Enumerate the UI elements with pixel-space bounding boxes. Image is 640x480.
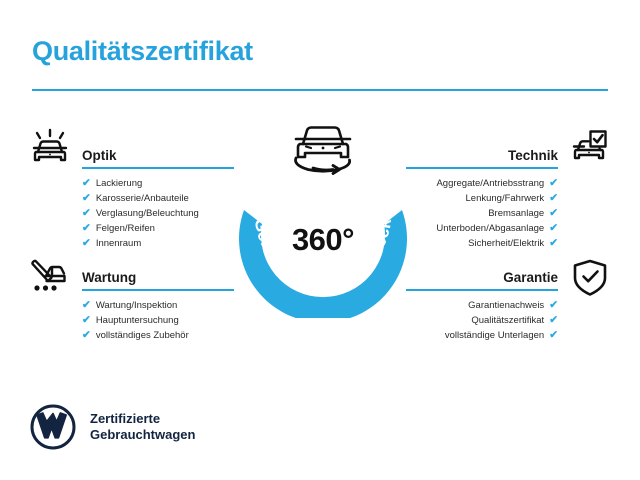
list-item: ✔Wartung/Inspektion (82, 298, 234, 313)
check-icon: ✔ (549, 223, 558, 234)
list-item: ✔Verglasung/Beleuchtung (82, 206, 234, 221)
car-checkbox-icon (566, 126, 610, 170)
check-icon: ✔ (82, 315, 91, 326)
list-item-label: vollständiges Zubehör (96, 328, 189, 343)
list-item: Bremsanlage✔ (406, 206, 558, 221)
list-item-label: Felgen/Reifen (96, 221, 155, 236)
list-item: Aggregate/Antriebsstrang✔ (406, 176, 558, 191)
check-icon: ✔ (82, 238, 91, 249)
page-title: Qualitätszertifikat (32, 36, 253, 67)
check-icon: ✔ (549, 330, 558, 341)
list-item-label: Karosserie/Anbauteile (96, 191, 189, 206)
badge-center-label: 360° (228, 222, 418, 258)
gebrauchtwagen-check-badge: Gebrauchtwagen-Check 360° (228, 118, 418, 318)
section-wartung: Wartung ✔Wartung/Inspektion ✔Hauptunters… (82, 270, 234, 343)
check-icon: ✔ (549, 238, 558, 249)
list-item-label: Lackierung (96, 176, 142, 191)
check-icon: ✔ (549, 178, 558, 189)
list-item: ✔Hauptuntersuchung (82, 313, 234, 328)
check-icon: ✔ (82, 330, 91, 341)
section-optik-list: ✔Lackierung ✔Karosserie/Anbauteile ✔Verg… (82, 176, 234, 251)
section-technik-divider (406, 167, 558, 169)
section-wartung-heading: Wartung (82, 270, 234, 286)
list-item-label: Sicherheit/Elektrik (468, 236, 544, 251)
check-icon: ✔ (82, 178, 91, 189)
list-item: ✔vollständiges Zubehör (82, 328, 234, 343)
check-icon: ✔ (549, 315, 558, 326)
check-icon: ✔ (82, 208, 91, 219)
check-icon: ✔ (82, 223, 91, 234)
footer-brand: Zertifizierte Gebrauchtwagen (30, 404, 195, 450)
section-technik-heading: Technik (406, 148, 558, 164)
list-item: ✔Karosserie/Anbauteile (82, 191, 234, 206)
footer-text: Zertifizierte Gebrauchtwagen (90, 411, 195, 443)
list-item-label: Wartung/Inspektion (96, 298, 178, 313)
car-service-tool-icon (26, 254, 70, 298)
shield-check-icon (568, 256, 612, 300)
check-icon: ✔ (549, 193, 558, 204)
list-item: vollständige Unterlagen✔ (406, 328, 558, 343)
list-item-label: Aggregate/Antriebsstrang (436, 176, 544, 191)
list-item: Garantienachweis✔ (406, 298, 558, 313)
section-optik-divider (82, 167, 234, 169)
title-divider (32, 89, 608, 91)
section-garantie-list: Garantienachweis✔ Qualitätszertifikat✔ v… (406, 298, 558, 343)
list-item: ✔Lackierung (82, 176, 234, 191)
check-icon: ✔ (82, 193, 91, 204)
list-item-label: vollständige Unterlagen (445, 328, 544, 343)
vw-logo (30, 404, 76, 450)
section-technik-list: Aggregate/Antriebsstrang✔ Lenkung/Fahrwe… (406, 176, 558, 251)
section-wartung-list: ✔Wartung/Inspektion ✔Hauptuntersuchung ✔… (82, 298, 234, 343)
list-item: ✔Felgen/Reifen (82, 221, 234, 236)
list-item-label: Garantienachweis (468, 298, 544, 313)
list-item-label: Lenkung/Fahrwerk (466, 191, 545, 206)
qualitaetszertifikat-page: Qualitätszertifikat Optik ✔Lackierung ✔K… (0, 0, 640, 480)
section-garantie: Garantie Garantienachweis✔ Qualitätszert… (406, 270, 558, 343)
list-item-label: Innenraum (96, 236, 141, 251)
check-icon: ✔ (82, 300, 91, 311)
list-item: Lenkung/Fahrwerk✔ (406, 191, 558, 206)
section-optik-heading: Optik (82, 148, 234, 164)
list-item-label: Bremsanlage (488, 206, 544, 221)
list-item: Unterboden/Abgasanlage✔ (406, 221, 558, 236)
section-optik: Optik ✔Lackierung ✔Karosserie/Anbauteile… (82, 148, 234, 251)
list-item: ✔Innenraum (82, 236, 234, 251)
car-shine-icon (28, 126, 72, 170)
section-garantie-divider (406, 289, 558, 291)
list-item-label: Hauptuntersuchung (96, 313, 179, 328)
list-item: Qualitätszertifikat✔ (406, 313, 558, 328)
list-item-label: Verglasung/Beleuchtung (96, 206, 199, 221)
list-item: Sicherheit/Elektrik✔ (406, 236, 558, 251)
footer-line-1: Zertifizierte (90, 411, 195, 427)
check-icon: ✔ (549, 300, 558, 311)
list-item-label: Qualitätszertifikat (471, 313, 544, 328)
section-garantie-heading: Garantie (406, 270, 558, 286)
list-item-label: Unterboden/Abgasanlage (436, 221, 544, 236)
footer-line-2: Gebrauchtwagen (90, 427, 195, 443)
section-wartung-divider (82, 289, 234, 291)
section-technik: Technik Aggregate/Antriebsstrang✔ Lenkun… (406, 148, 558, 251)
check-icon: ✔ (549, 208, 558, 219)
